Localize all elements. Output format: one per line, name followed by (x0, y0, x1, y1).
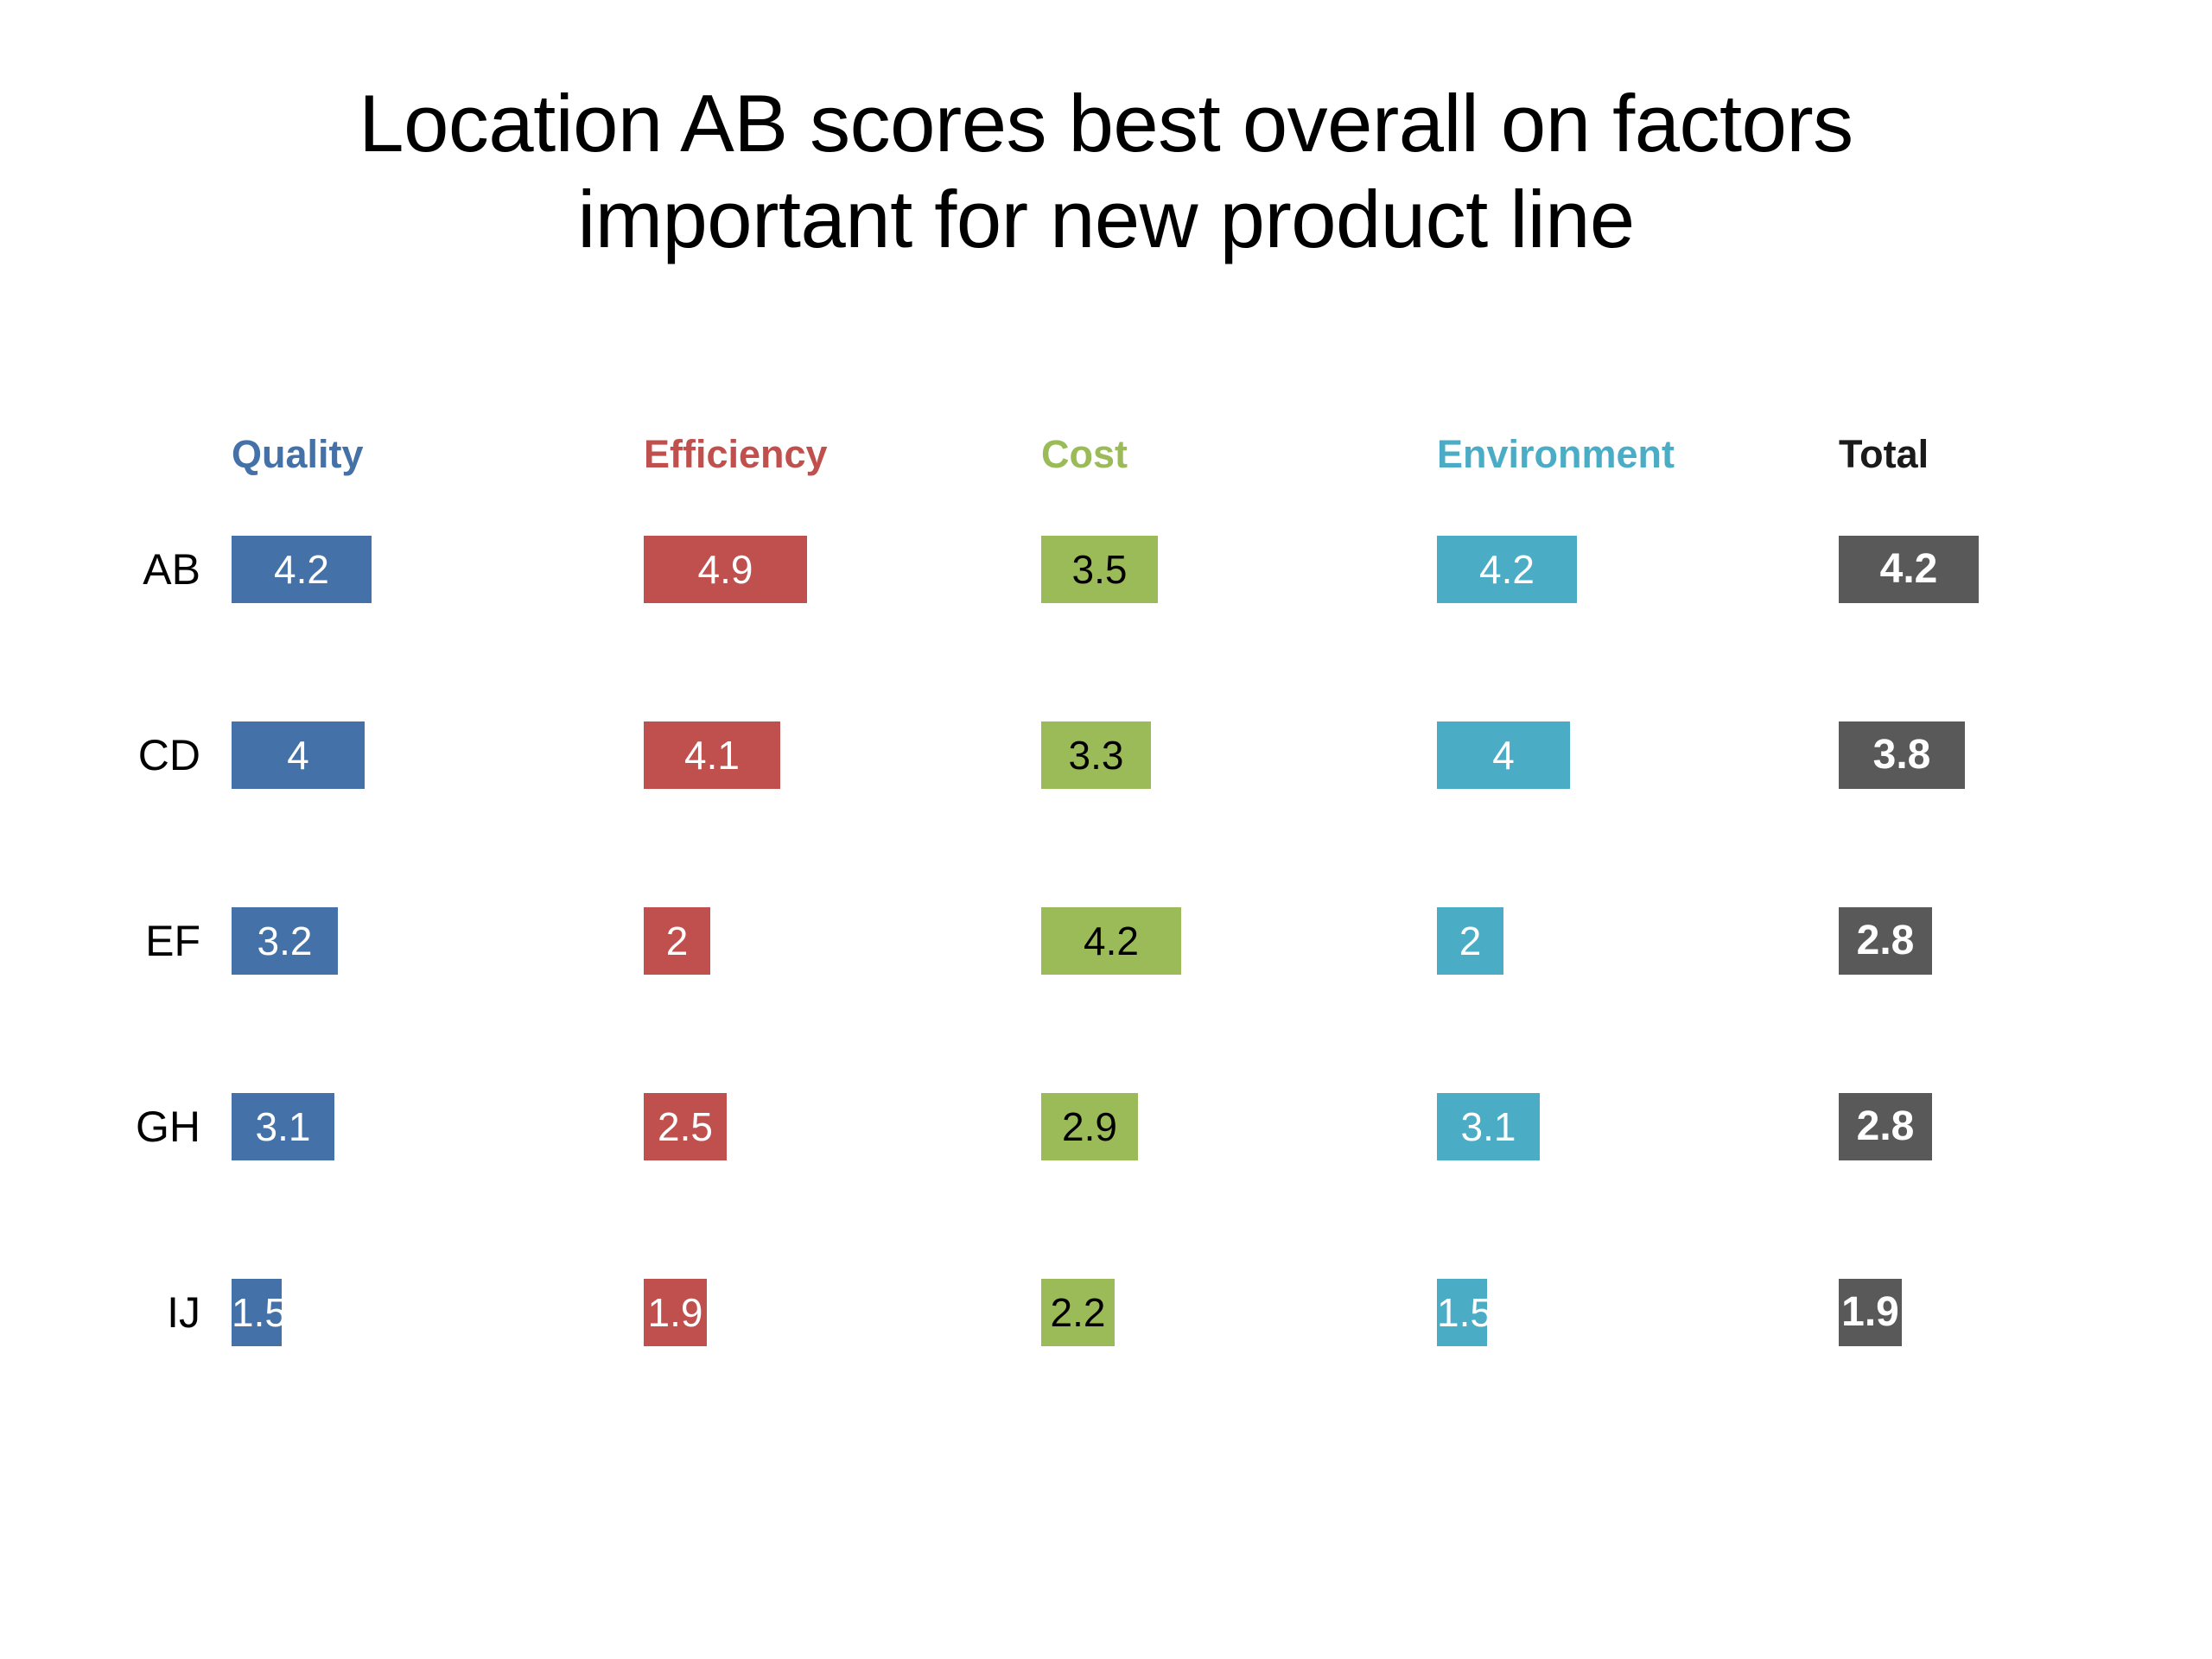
bar-value: 2.9 (1041, 1093, 1138, 1160)
column-header-efficiency: Efficiency (644, 432, 828, 477)
bar-value: 3.1 (232, 1093, 334, 1160)
bar-efficiency-ab: 4.9 (644, 536, 807, 603)
bar-efficiency-ef: 2 (644, 907, 710, 975)
bar-cost-gh: 2.9 (1041, 1093, 1138, 1160)
bar-quality-ab: 4.2 (232, 536, 372, 603)
bar-value: 1.5 (1437, 1279, 1487, 1346)
bar-environment-ij: 1.5 (1437, 1279, 1487, 1346)
bar-value: 4.2 (232, 536, 372, 603)
bar-value: 2 (644, 907, 710, 975)
row-label-ef: EF (0, 907, 200, 975)
bar-value: 3.8 (1839, 721, 1965, 789)
bar-efficiency-cd: 4.1 (644, 721, 780, 789)
bar-value: 4.2 (1437, 536, 1577, 603)
column-header-total: Total (1839, 432, 1929, 477)
bar-environment-gh: 3.1 (1437, 1093, 1540, 1160)
bar-cost-ef: 4.2 (1041, 907, 1181, 975)
bar-cost-ij: 2.2 (1041, 1279, 1115, 1346)
bar-quality-ij: 1.5 (232, 1279, 282, 1346)
column-header-environment: Environment (1437, 432, 1675, 477)
bar-value: 3.2 (232, 907, 338, 975)
bar-environment-ab: 4.2 (1437, 536, 1577, 603)
bar-value: 4.9 (644, 536, 807, 603)
bar-value: 2.8 (1839, 907, 1932, 975)
bar-value: 1.5 (232, 1279, 282, 1346)
row-label-gh: GH (0, 1093, 200, 1160)
column-header-quality: Quality (232, 432, 364, 477)
bar-chart-matrix: ABCDEFGHIJQuality4.243.23.11.5Efficiency… (0, 0, 2212, 1659)
row-label-ab: AB (0, 536, 200, 603)
bar-value: 4.2 (1041, 907, 1181, 975)
bar-value: 4 (232, 721, 365, 789)
bar-quality-ef: 3.2 (232, 907, 338, 975)
bar-value: 3.3 (1041, 721, 1151, 789)
bar-total-gh: 2.8 (1839, 1093, 1932, 1160)
column-header-cost: Cost (1041, 432, 1128, 477)
bar-environment-cd: 4 (1437, 721, 1570, 789)
bar-efficiency-ij: 1.9 (644, 1279, 707, 1346)
bar-cost-cd: 3.3 (1041, 721, 1151, 789)
bar-environment-ef: 2 (1437, 907, 1503, 975)
bar-value: 4.2 (1839, 536, 1979, 603)
bar-total-ef: 2.8 (1839, 907, 1932, 975)
bar-value: 2.2 (1041, 1279, 1115, 1346)
bar-value: 3.5 (1041, 536, 1158, 603)
bar-total-ij: 1.9 (1839, 1279, 1902, 1346)
bar-value: 1.9 (644, 1279, 707, 1346)
bar-quality-cd: 4 (232, 721, 365, 789)
bar-value: 4.1 (644, 721, 780, 789)
bar-value: 2 (1437, 907, 1503, 975)
bar-efficiency-gh: 2.5 (644, 1093, 727, 1160)
row-label-cd: CD (0, 721, 200, 789)
bar-value: 2.8 (1839, 1093, 1932, 1160)
bar-total-ab: 4.2 (1839, 536, 1979, 603)
bar-value: 1.9 (1839, 1279, 1902, 1346)
row-label-ij: IJ (0, 1279, 200, 1346)
bar-cost-ab: 3.5 (1041, 536, 1158, 603)
bar-quality-gh: 3.1 (232, 1093, 334, 1160)
bar-value: 2.5 (644, 1093, 727, 1160)
bar-total-cd: 3.8 (1839, 721, 1965, 789)
bar-value: 4 (1437, 721, 1570, 789)
bar-value: 3.1 (1437, 1093, 1540, 1160)
